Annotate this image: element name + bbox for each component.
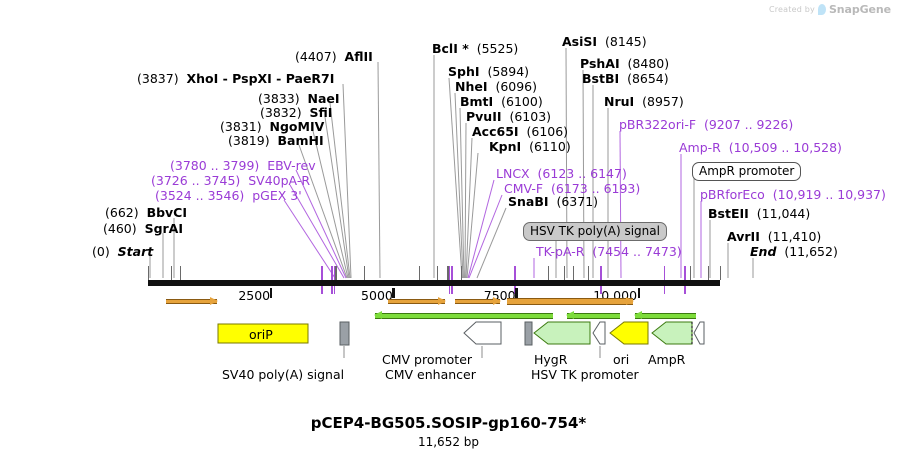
label-position: (11,652) [776, 244, 837, 259]
enzyme-label-bmti[interactable]: BmtI (6100) [460, 95, 543, 108]
enzyme-label-ngomiv[interactable]: (3831) NgoMIV [220, 120, 324, 133]
enzyme-label-sgrai[interactable]: (460) SgrAI [103, 222, 183, 235]
forward-primer-arrow [507, 297, 633, 304]
label-name: CMV-F [504, 181, 543, 196]
feature-hsv-tk-promoter [593, 322, 605, 344]
enzyme-label-bstbi[interactable]: BstBI (8654) [582, 72, 669, 85]
primer-tick [600, 266, 602, 280]
primer-tick [514, 266, 516, 280]
label-name: pGEX 3' [252, 188, 301, 203]
primer-tick-below [449, 286, 451, 294]
label-position: (10,509 .. 10,528) [721, 140, 842, 155]
label-position: (5894) [480, 64, 530, 79]
enzyme-label-bamhi[interactable]: (3819) BamHI [228, 134, 324, 147]
label-name: BbvCI [147, 205, 187, 220]
label-name: AvrII [727, 229, 760, 244]
label-position: (3833) [258, 91, 308, 106]
label-name: NaeI [308, 91, 340, 106]
label-position: (6123 .. 6147) [530, 166, 627, 181]
primer-tick [684, 266, 686, 280]
ruler-tick [638, 288, 641, 298]
enzyme-tick [564, 266, 565, 280]
enzyme-tick [461, 266, 462, 280]
label-name: SphI [448, 64, 480, 79]
feature-label-orip[interactable]: oriP [249, 327, 273, 342]
primer-tick [664, 266, 666, 280]
label-position: (460) [103, 221, 145, 236]
enzyme-tick [419, 266, 420, 280]
label-name: SfiI [310, 105, 333, 120]
primer-label-cmv-f[interactable]: CMV-F (6173 .. 6193) [504, 182, 640, 195]
enzyme-tick [573, 266, 574, 280]
boxed-label-hsv-tk-poly-a-signal[interactable]: HSV TK poly(A) signal [523, 222, 667, 241]
label-name: NruI [604, 94, 634, 109]
primer-tick-below [321, 286, 323, 294]
label-position: (3837) [137, 71, 187, 86]
label-position: (8654) [619, 71, 669, 86]
ruler-label: 2500 [238, 288, 270, 303]
plasmid-title: pCEP4-BG505.SOSIP-gp160-754* [0, 414, 897, 432]
label-position: (6173 .. 6193) [543, 181, 640, 196]
primer-label-pgex-3[interactable]: (3524 .. 3546) pGEX 3' [155, 189, 302, 202]
label-position: (6100) [493, 94, 543, 109]
boxed-label-ampr-promoter[interactable]: AmpR promoter [692, 162, 801, 181]
feature-ori [610, 322, 648, 344]
label-position: (6371) [549, 194, 599, 209]
label-position: (11,410) [760, 229, 821, 244]
plasmid-backbone [148, 280, 720, 286]
enzyme-tick [588, 266, 589, 280]
label-name: BstBI [582, 71, 619, 86]
feature-label-cmv-promoter[interactable]: CMV promoter [382, 352, 472, 367]
label-name: BmtI [460, 94, 493, 109]
enzyme-label-pvuii[interactable]: PvuII (6103) [466, 110, 551, 123]
label-position: (3831) [220, 119, 270, 134]
label-name: SgrAI [145, 221, 183, 236]
feature-hygr-start [525, 322, 532, 345]
label-position: (3524 .. 3546) [155, 188, 252, 203]
label-position: (0) [92, 244, 118, 259]
enzyme-label-avrii[interactable]: AvrII (11,410) [727, 230, 821, 243]
enzyme-label-aflii[interactable]: (4407) AflII [295, 50, 373, 63]
label-name: Amp-R [679, 140, 721, 155]
label-position: (5525) [469, 41, 519, 56]
primer-label-ebv-rev[interactable]: (3780 .. 3799) EBV-rev [170, 159, 316, 172]
label-name: XhoI - PspXI - PaeR7I [187, 71, 335, 86]
label-name: NheI [455, 79, 488, 94]
label-position: (8480) [620, 56, 670, 71]
feature-label-hsv-tk-promoter[interactable]: HSV TK promoter [531, 367, 639, 382]
label-position: (8145) [597, 34, 647, 49]
label-name: EBV-rev [267, 158, 315, 173]
label-name: AsiSI [562, 34, 597, 49]
label-position: (3819) [228, 133, 278, 148]
enzyme-label-nhei[interactable]: NheI (6096) [455, 80, 537, 93]
enzyme-label-bcli[interactable]: BclI * (5525) [432, 42, 518, 55]
label-position: (6110) [521, 139, 571, 154]
primer-label-tk-pa-r[interactable]: TK-pA-R (7454 .. 7473) [536, 245, 682, 258]
primer-tick-below [451, 286, 453, 294]
label-name: AflII [345, 49, 373, 64]
enzyme-label-pshai[interactable]: PshAI (8480) [580, 57, 669, 70]
label-name: End [750, 244, 776, 259]
enzyme-tick [171, 266, 172, 280]
enzyme-tick [336, 266, 337, 280]
label-position: (3832) [260, 105, 310, 120]
label-name: SV40pA-R [248, 173, 310, 188]
label-name: SnaBI [508, 194, 549, 209]
label-name: TK-pA-R [536, 244, 584, 259]
primer-tick-below [664, 286, 666, 294]
primer-label-sv40pa-r[interactable]: (3726 .. 3745) SV40pA-R [151, 174, 310, 187]
feature-sv40-polya [340, 322, 349, 345]
forward-primer-arrow [166, 297, 217, 304]
primer-tick [331, 266, 333, 280]
label-position: (4407) [295, 49, 345, 64]
label-position: (3780 .. 3799) [170, 158, 267, 173]
primer-label-amp-r[interactable]: Amp-R (10,509 .. 10,528) [679, 141, 842, 154]
enzyme-tick [148, 266, 149, 280]
label-name: Start [118, 244, 154, 259]
label-name: Acc65I [472, 124, 519, 139]
primer-tick [334, 266, 336, 280]
forward-primer-arrow [388, 297, 445, 304]
enzyme-label-bsteii[interactable]: BstEII (11,044) [708, 207, 810, 220]
enzyme-label-start[interactable]: (0) Start [92, 245, 153, 258]
enzyme-label-snabi[interactable]: SnaBI (6371) [508, 195, 598, 208]
label-position: (3726 .. 3745) [151, 173, 248, 188]
primer-label-pbrforeco[interactable]: pBRforEco (10,919 .. 10,937) [700, 188, 886, 201]
label-position: (6096) [488, 79, 538, 94]
label-name: BamHI [278, 133, 324, 148]
enzyme-label-bbvci[interactable]: (662) BbvCI [105, 206, 187, 219]
label-name: pBR322ori-F [619, 117, 696, 132]
enzyme-tick [364, 266, 365, 280]
enzyme-label-acc65i[interactable]: Acc65I (6106) [472, 125, 568, 138]
enzyme-label-kpni[interactable]: KpnI (6110) [489, 140, 571, 153]
label-position: (662) [105, 205, 147, 220]
enzyme-tick [690, 266, 691, 280]
enzyme-tick [437, 266, 438, 280]
enzyme-tick [720, 266, 721, 280]
feature-cmv-promoter [464, 322, 501, 344]
plasmid-length: 11,652 bp [0, 435, 897, 449]
feature-label-ampr[interactable]: AmpR [648, 352, 685, 367]
label-position: (6103) [502, 109, 552, 124]
enzyme-label-sfii[interactable]: (3832) SfiI [260, 106, 332, 119]
enzyme-label-end[interactable]: End (11,652) [750, 245, 838, 258]
label-name: PshAI [580, 56, 620, 71]
primer-label-pbr322ori-f[interactable]: pBR322ori-F (9207 .. 9226) [619, 118, 793, 131]
label-position: (10,919 .. 10,937) [765, 187, 886, 202]
label-position: (8957) [634, 94, 684, 109]
primer-label-lncx[interactable]: LNCX (6123 .. 6147) [496, 167, 627, 180]
feature-label-sv40-poly-a-signal[interactable]: SV40 poly(A) signal [222, 367, 344, 382]
label-position: (9207 .. 9226) [696, 117, 793, 132]
label-position: (11,044) [749, 206, 810, 221]
label-name: pBRforEco [700, 187, 765, 202]
primer-tick [321, 266, 323, 280]
enzyme-label-asisi[interactable]: AsiSI (8145) [562, 35, 647, 48]
feature-ampr [652, 322, 692, 344]
primer-tick-below [684, 286, 686, 294]
label-position: (7454 .. 7473) [584, 244, 681, 259]
label-name: NgoMIV [270, 119, 325, 134]
enzyme-tick [548, 266, 549, 280]
enzyme-label-nrui[interactable]: NruI (8957) [604, 95, 684, 108]
primer-tick-below [331, 286, 333, 294]
enzyme-tick [180, 266, 181, 280]
enzyme-label-naei[interactable]: (3833) NaeI [258, 92, 340, 105]
forward-primer-arrow [455, 297, 501, 304]
enzyme-label-sphi[interactable]: SphI (5894) [448, 65, 529, 78]
label-name: LNCX [496, 166, 530, 181]
label-name: BclI * [432, 41, 469, 56]
primer-tick-below [334, 286, 336, 294]
primer-tick [449, 266, 451, 280]
primer-tick [451, 266, 453, 280]
enzyme-tick [708, 266, 709, 280]
feature-ampr-promoter [694, 322, 704, 344]
feature-hygr [534, 322, 590, 344]
label-name: KpnI [489, 139, 521, 154]
enzyme-label-xhoi-pspxi-paer7i[interactable]: (3837) XhoI - PspXI - PaeR7I [137, 72, 334, 85]
label-name: BstEII [708, 206, 749, 221]
feature-label-ori[interactable]: ori [613, 352, 629, 367]
label-position: (6106) [519, 124, 569, 139]
feature-label-hygr[interactable]: HygR [534, 352, 567, 367]
feature-label-cmv-enhancer[interactable]: CMV enhancer [385, 367, 476, 382]
label-name: PvuII [466, 109, 502, 124]
